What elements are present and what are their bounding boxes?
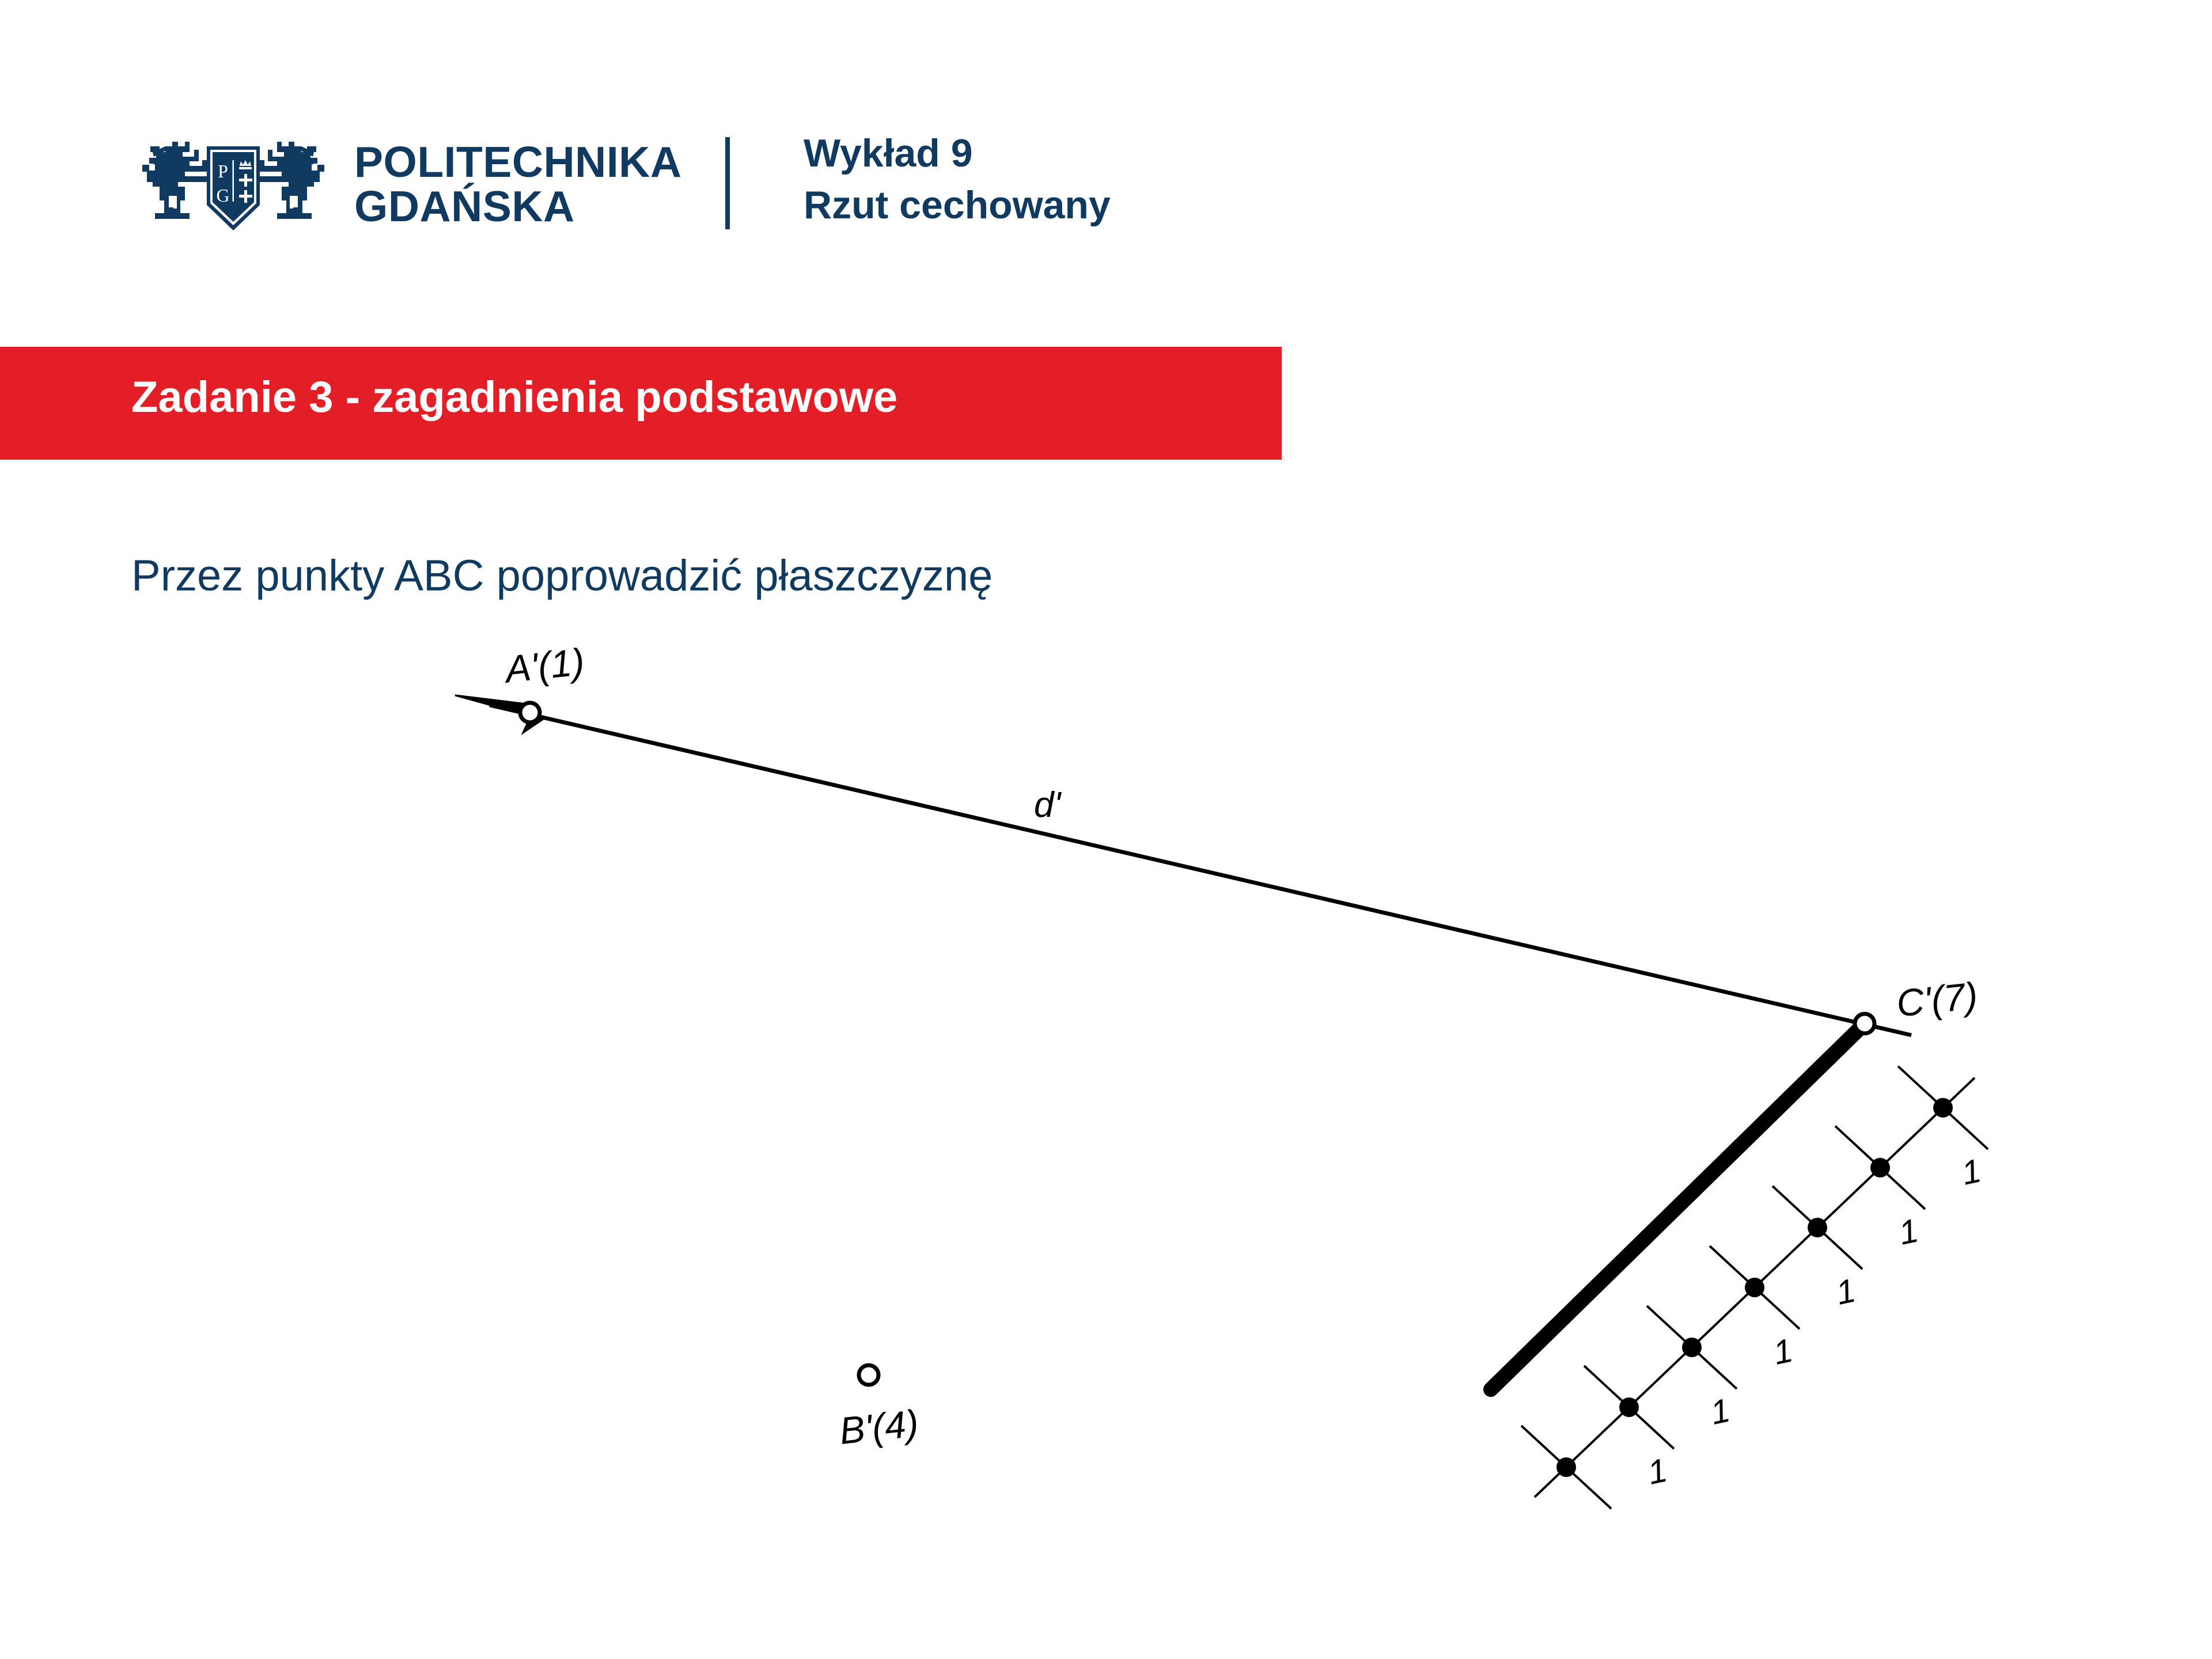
point-a-label: A'(1) [501, 640, 586, 691]
scale-interval-label: 1 [1833, 1271, 1859, 1312]
scale-interval-label: 1 [1959, 1152, 1984, 1192]
scale-interval-label: 1 [1770, 1331, 1796, 1372]
scale-interval-label: 1 [1645, 1451, 1671, 1491]
scale-dot [1870, 1158, 1890, 1177]
scale-dot [1933, 1098, 1953, 1118]
scale-dot [1745, 1278, 1764, 1297]
line-d-prime [490, 705, 1911, 1035]
scale-dot [1619, 1397, 1639, 1417]
line-d-label: d' [1034, 785, 1062, 825]
point-c-label: C'(7) [1895, 974, 1980, 1025]
scale-interval-label: 1 [1896, 1211, 1922, 1252]
scale-dot [1556, 1457, 1576, 1477]
scale-dot [1808, 1218, 1827, 1237]
scale-dot [1682, 1338, 1702, 1357]
point-b-label: B'(4) [838, 1402, 921, 1452]
point-c-marker[interactable] [1855, 1014, 1874, 1033]
point-b-marker[interactable] [859, 1365, 878, 1385]
point-a-marker[interactable] [520, 703, 540, 722]
geometry-drawing: d'111111A'(1)B'(4)C'(7) [0, 0, 2212, 1659]
scale-interval-label: 1 [1707, 1391, 1733, 1431]
